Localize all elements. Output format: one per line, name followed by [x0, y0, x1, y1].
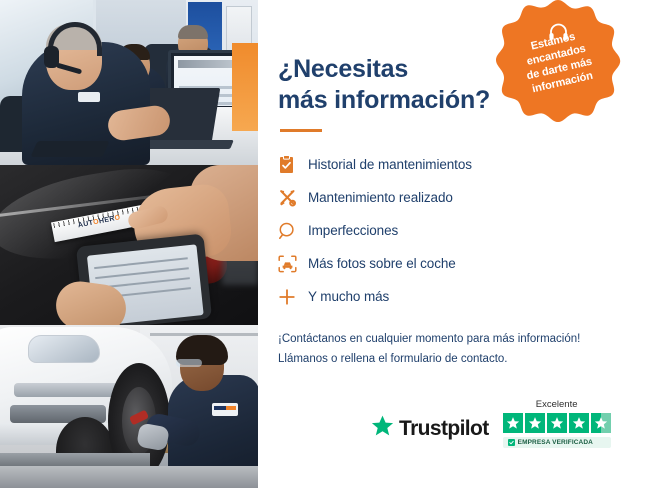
car-grille-upper — [14, 383, 118, 397]
contact-line-two: Llámanos o rellena el formulario de cont… — [278, 353, 508, 365]
trustpilot-stars — [503, 413, 611, 433]
feature-label: Historial de mantenimientos — [308, 157, 472, 172]
headline-line-two: más información? — [278, 86, 490, 114]
headline-line-one: ¿Necesitas — [278, 55, 408, 83]
mechanic-uniform-badge — [212, 403, 238, 416]
feature-list: Historial de mantenimientos M — [278, 148, 650, 313]
contact-line-one: ¡Contáctanos en cualquier momento para m… — [278, 333, 580, 345]
trustpilot-rating-label: Excelente — [503, 399, 611, 410]
star-filled — [525, 413, 545, 433]
trustpilot-star-icon — [370, 414, 395, 443]
verified-label: EMPRESA VERIFICADA — [518, 439, 593, 446]
car-lift-arm — [0, 453, 150, 467]
trustpilot-rating[interactable]: Trustpilot Excelente — [370, 399, 611, 448]
feature-item-fotos: Más fotos sobre el coche — [278, 247, 650, 280]
star-filled — [569, 413, 589, 433]
clipboard-check-icon — [278, 155, 308, 174]
contact-text: ¡Contáctanos en cualquier momento para m… — [278, 330, 650, 370]
check-icon — [508, 439, 515, 446]
plus-icon — [278, 288, 308, 306]
content-panel: ¿Necesitas más información? Historial de… — [258, 0, 650, 488]
agent-three-hair — [178, 25, 208, 39]
feature-label: Más fotos sobre el coche — [308, 256, 456, 271]
tablet-row — [95, 267, 189, 279]
feature-item-historial: Historial de mantenimientos — [278, 148, 650, 181]
status-badge: EMPRESA VERIFICADA — [503, 437, 611, 448]
agent-name-badge — [78, 92, 100, 102]
star-filled — [503, 413, 523, 433]
star-half — [591, 413, 611, 433]
car-headlight — [28, 335, 100, 363]
magnifier-icon — [278, 222, 308, 240]
photo-column: AUTOHERO — [0, 0, 258, 488]
trustpilot-wordmark: Trustpilot — [399, 417, 489, 441]
support-badge: Estamos encantados de darte más informac… — [494, 0, 622, 124]
autohero-ruler-inspection-photo: AUTOHERO — [0, 165, 258, 325]
feature-label: Mantenimiento realizado — [308, 190, 453, 205]
tools-cross-icon — [278, 188, 308, 207]
feature-label: Y mucho más — [308, 289, 389, 304]
trustpilot-logo[interactable]: Trustpilot — [370, 414, 489, 443]
workshop-floor — [0, 466, 258, 488]
feature-label: Imperfecciones — [308, 223, 398, 238]
feature-item-mucho-mas: Y mucho más — [278, 280, 650, 313]
mechanic-wheel-inspection-photo — [0, 325, 258, 488]
title-underline-rule — [280, 129, 322, 132]
information-banner: AUTOHERO — [0, 0, 650, 488]
mechanic-safety-glasses — [176, 359, 202, 367]
trustpilot-score-block: Excelente — [503, 399, 611, 448]
orange-barrier — [232, 43, 258, 131]
tablet-row — [94, 257, 188, 269]
feature-item-imperfecciones: Imperfecciones — [278, 214, 650, 247]
call-center-agents-photo — [0, 0, 258, 165]
star-filled — [547, 413, 567, 433]
desk-tablet — [30, 141, 109, 157]
feature-item-mantenimiento: Mantenimiento realizado — [278, 181, 650, 214]
car-frame-icon — [278, 255, 308, 273]
page-title: ¿Necesitas más información? — [278, 54, 508, 115]
